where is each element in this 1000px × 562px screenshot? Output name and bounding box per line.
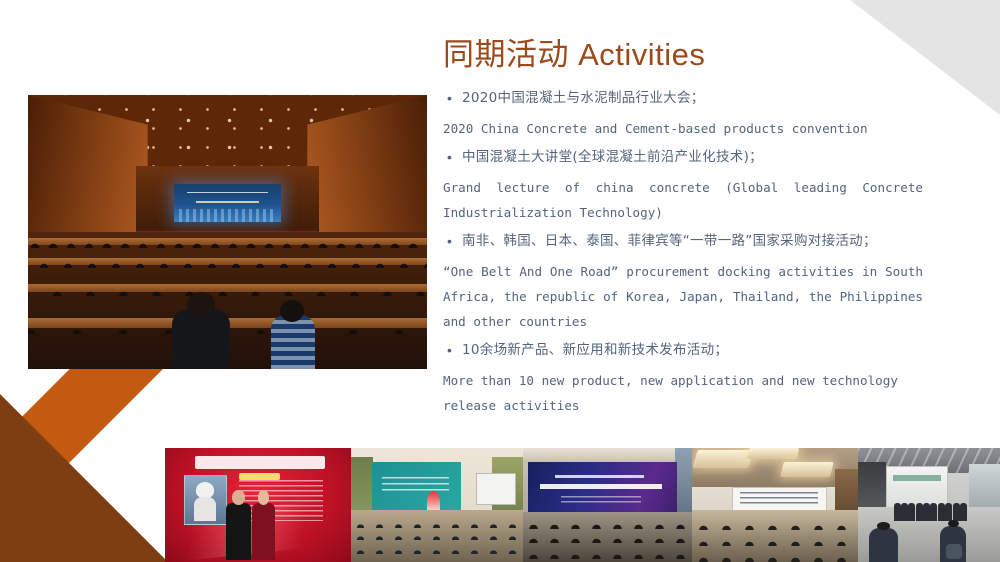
bullet-icon: •	[443, 340, 462, 361]
list-item: • 南非、韩国、日本、泰国、菲律宾等“一带一路”国家采购对接活动；	[443, 231, 923, 252]
ballroom-conference-photo	[692, 448, 858, 562]
auditorium-photo	[28, 95, 427, 369]
screen-text-line	[196, 201, 258, 203]
list-item: • 10余场新产品、新应用和新技术发布活动；	[443, 340, 923, 361]
foreground-attendee	[172, 309, 230, 369]
seminar-backdrop	[372, 462, 461, 517]
auditorium-audience	[28, 232, 427, 369]
page-title: 同期活动 Activities	[443, 36, 705, 74]
chandelier	[693, 450, 755, 468]
forum-audience	[523, 512, 692, 562]
activities-list: • 2020中国混凝土与水泥制品行业大会； 2020 China Concret…	[443, 88, 923, 424]
foreground-attendee-striped	[271, 315, 315, 369]
brown-diagonal-triangle	[0, 394, 168, 562]
chandelier	[780, 462, 833, 477]
seminar-audience	[351, 510, 523, 562]
screen-skyline-graphic	[179, 209, 276, 222]
photo-filmstrip	[165, 448, 1000, 562]
list-item-label-en: “One Belt And One Road” procurement dock…	[443, 259, 923, 334]
bullet-icon: •	[443, 231, 462, 252]
list-item-label-cn: 南非、韩国、日本、泰国、菲律宾等“一带一路”国家采购对接活动；	[462, 231, 877, 252]
chandelier	[747, 448, 799, 459]
list-item-label-en: 2020 China Concrete and Cement-based pro…	[443, 116, 923, 141]
backdrop-headline-banner	[195, 456, 325, 469]
backpack	[946, 544, 962, 560]
backdrop-portrait-photo	[184, 475, 227, 525]
auditorium-stage-screen	[174, 184, 282, 222]
bullet-icon: •	[443, 147, 462, 168]
list-item: • 2020中国混凝土与水泥制品行业大会；	[443, 88, 923, 109]
list-item-label-cn: 2020中国混凝土与水泥制品行业大会；	[462, 88, 705, 109]
exhibition-hall-photo	[858, 448, 1000, 562]
presentation-slide: 同期活动 Activities • 2020中国混凝土与水	[0, 0, 1000, 562]
list-item-label-cn: 10余场新产品、新应用和新技术发布活动；	[462, 340, 728, 361]
list-item-label-en: Grand lecture of china concrete (Global …	[443, 175, 923, 225]
backdrop-subtitle-banner	[239, 473, 280, 480]
award-recipient	[226, 503, 250, 560]
list-item-label-cn: 中国混凝土大讲堂(全球混凝土前沿产业化技术)；	[462, 147, 763, 168]
ballroom-audience	[692, 510, 858, 562]
list-item: • 中国混凝土大讲堂(全球混凝土前沿产业化技术)；	[443, 147, 923, 168]
screen-text-line	[187, 192, 269, 194]
seminar-room-photo	[351, 448, 523, 562]
award-ceremony-photo	[165, 448, 351, 562]
bullet-icon: •	[443, 88, 462, 109]
award-presenter	[252, 503, 274, 560]
exhibition-visitor	[869, 528, 897, 562]
seminar-projection-screen	[476, 473, 516, 505]
forum-stage-photo	[523, 448, 692, 562]
list-item-label-en: More than 10 new product, new applicatio…	[443, 368, 923, 418]
